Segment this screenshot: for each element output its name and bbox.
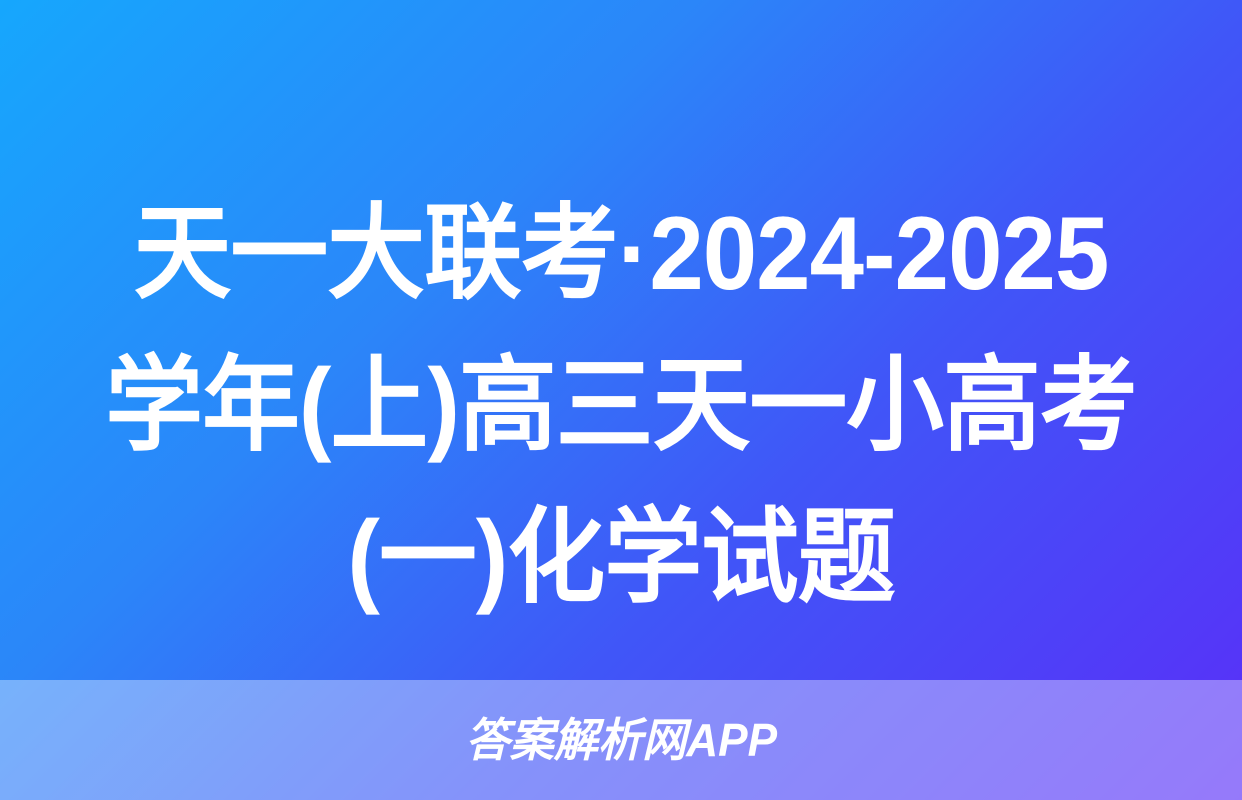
exam-cover-page: 天一大联考·2024-2025 学年(上)高三天一小高考 (一)化学试题 答案解… bbox=[0, 0, 1242, 800]
app-watermark-label: 答案解析网APP bbox=[465, 714, 777, 766]
title-line-1: 天一大联考·2024-2025 bbox=[37, 178, 1204, 330]
title-line-3: (一)化学试题 bbox=[37, 482, 1204, 634]
footer-watermark-band: 答案解析网APP bbox=[0, 680, 1242, 800]
title-line-2: 学年(上)高三天一小高考 bbox=[37, 330, 1204, 482]
page-title: 天一大联考·2024-2025 学年(上)高三天一小高考 (一)化学试题 bbox=[0, 178, 1242, 638]
